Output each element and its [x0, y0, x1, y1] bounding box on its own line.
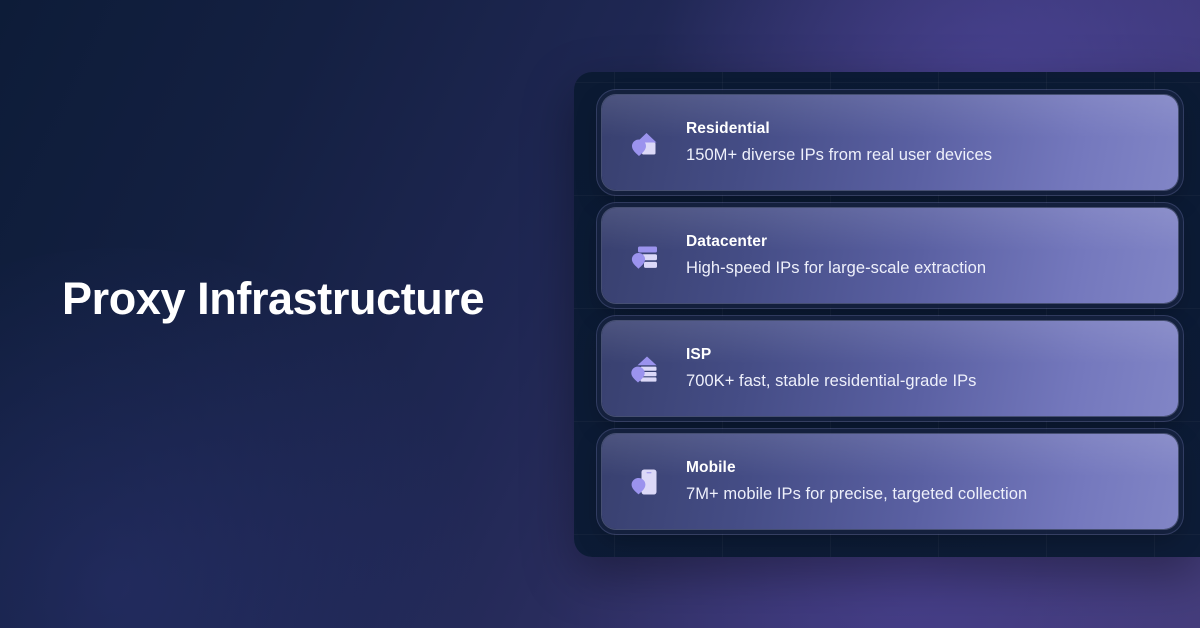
proxy-card-datacenter[interactable]: Datacenter High-speed IPs for large-scal… — [602, 208, 1178, 303]
proxy-card-mobile[interactable]: Mobile 7M+ mobile IPs for precise, targe… — [602, 434, 1178, 529]
proxy-card-text: Residential 150M+ diverse IPs from real … — [686, 119, 992, 166]
proxy-card-title: Mobile — [686, 458, 1027, 478]
proxy-card-description: 700K+ fast, stable residential-grade IPs — [686, 371, 976, 392]
proxy-card-title: Residential — [686, 119, 992, 139]
proxy-card-residential[interactable]: Residential 150M+ diverse IPs from real … — [602, 95, 1178, 190]
proxy-card-description: High-speed IPs for large-scale extractio… — [686, 258, 986, 279]
page-title: Proxy Infrastructure — [62, 270, 484, 328]
infographic-canvas: Proxy Infrastructure Residential 150M+ d… — [0, 0, 1200, 628]
proxy-card-title: Datacenter — [686, 232, 986, 252]
triangle-server-location-pin-icon — [628, 351, 664, 387]
proxy-card-description: 150M+ diverse IPs from real user devices — [686, 145, 992, 166]
proxy-card-text: Mobile 7M+ mobile IPs for precise, targe… — [686, 458, 1027, 505]
proxy-card-text: ISP 700K+ fast, stable residential-grade… — [686, 345, 976, 392]
proxy-card-isp[interactable]: ISP 700K+ fast, stable residential-grade… — [602, 321, 1178, 416]
proxy-card-title: ISP — [686, 345, 976, 365]
proxy-card-list: Residential 150M+ diverse IPs from real … — [602, 95, 1200, 529]
proxy-card-text: Datacenter High-speed IPs for large-scal… — [686, 232, 986, 279]
server-stack-location-pin-icon — [628, 238, 664, 274]
mobile-phone-location-pin-icon — [628, 464, 664, 500]
house-location-pin-icon — [628, 125, 664, 161]
proxy-types-panel: Residential 150M+ diverse IPs from real … — [574, 72, 1200, 557]
proxy-card-description: 7M+ mobile IPs for precise, targeted col… — [686, 484, 1027, 505]
